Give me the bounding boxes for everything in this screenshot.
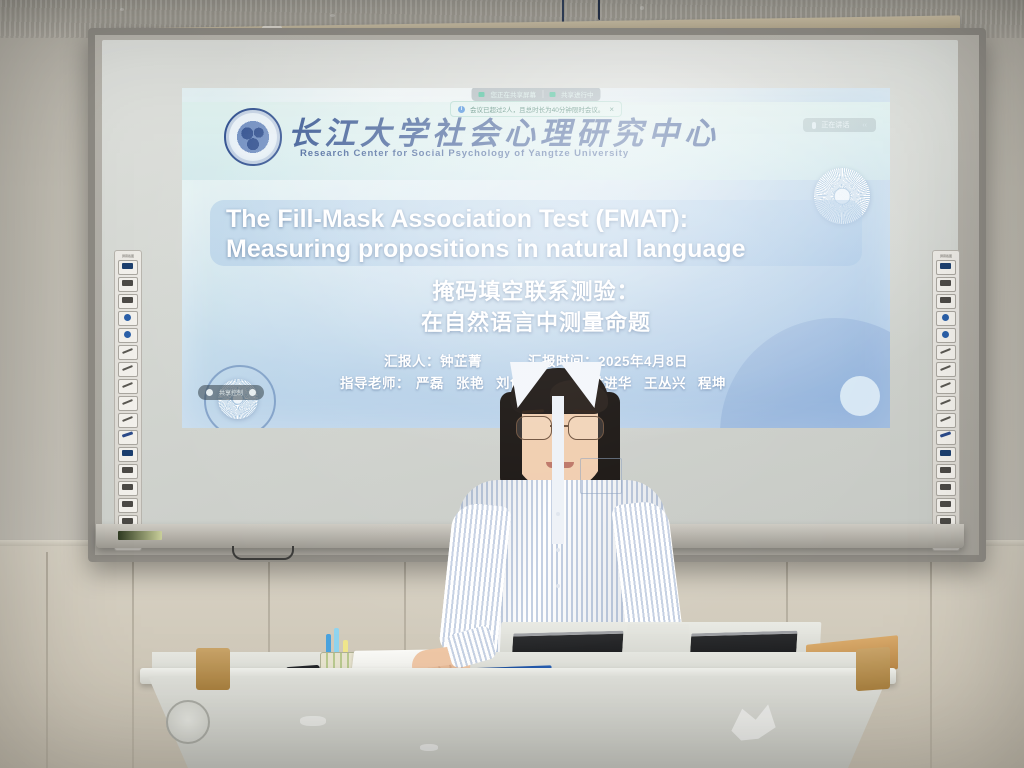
board-brand-label [118,531,162,540]
shape-tool[interactable] [118,430,138,445]
pen-tool-2[interactable] [118,362,138,377]
slide-title-cn-line2: 在自然语言中测量命题 [182,307,890,338]
share-status-label: 共享进行中 [561,89,594,99]
info-icon: i [458,106,465,113]
save-tool[interactable] [118,481,138,496]
dock-dot-icon-2 [249,389,256,396]
shape-tool[interactable] [936,430,956,445]
slide-title-en-line1: The Fill-Mask Association Test (FMAT): [226,204,866,234]
slide-title-english: The Fill-Mask Association Test (FMAT): M… [226,204,866,264]
toolbar-caption: 屏幕截图 [122,254,134,258]
podium-emblem [166,700,210,744]
advisor-name: 严磊 [416,372,444,392]
save-tool[interactable] [936,481,956,496]
print-tool[interactable] [936,498,956,513]
brush-tool[interactable] [118,396,138,411]
screen-share-bar[interactable]: 您正在共享屏幕 共享进行中 [472,88,601,101]
speaking-label: 正在讲话 [821,120,849,130]
blue-marker-tool[interactable] [118,311,138,326]
pen-tool-3[interactable] [118,379,138,394]
advisor-label: 指导老师： [340,376,410,391]
podium-post-left [196,648,230,690]
share-status-icon [549,92,555,97]
pen-tool-1[interactable] [118,345,138,360]
lamp-tool[interactable] [936,464,956,479]
slide-title-en-line2: Measuring propositions in natural langua… [226,234,866,264]
presenter-label: 汇报人： [384,354,440,369]
meeting-toast-text: 会议已超过2人，且总时长为40分钟限时会议。 [470,104,604,114]
classroom-presentation-photo: 长江大学社会心理研究中心 Research Center for Social … [0,0,1024,768]
print-tool[interactable] [118,498,138,513]
dock-dot-icon [206,389,213,396]
eraser-tool[interactable] [936,294,956,309]
highlight-tool[interactable] [118,413,138,428]
share-control-dock[interactable]: 共享控制 [198,385,264,400]
dot-tool[interactable] [936,328,956,343]
board-toolbar-right[interactable]: 屏幕截图 [932,250,960,551]
toolbar-caption-right: 屏幕截图 [940,254,952,258]
share-indicator-icon [479,92,485,97]
brush-tool[interactable] [936,396,956,411]
screen-capture-tool[interactable] [118,260,138,275]
slide-title-chinese: 掩码填空联系测验： 在自然语言中测量命题 [182,276,890,338]
slide-title-cn-line1: 掩码填空联系测验： [182,276,890,307]
advisor-name: 程坤 [698,372,726,392]
tray-cable-hook [232,546,294,560]
university-name-en: Research Center for Social Psychology of… [300,148,629,159]
pen-tool-1[interactable] [936,345,956,360]
lens-right [568,416,604,440]
share-control-label: 共享控制 [219,388,243,397]
pen-tool-2[interactable] [936,362,956,377]
blue-marker-tool[interactable] [936,311,956,326]
screen-capture-tool[interactable] [936,260,956,275]
select-tool[interactable] [118,277,138,292]
meeting-toast-banner[interactable]: i 会议已超过2人，且总时长为40分钟限时会议。 × [450,101,622,117]
highlight-tool[interactable] [936,413,956,428]
monitor-tool[interactable] [936,447,956,462]
microphone-icon [812,122,816,129]
share-bar-label: 您正在共享屏幕 [491,89,537,99]
shirt-pocket [580,458,622,494]
university-crest-icon [224,108,282,166]
lens-left [516,416,552,440]
board-toolbar-left[interactable]: 屏幕截图 [114,250,142,551]
shirt-placket [552,396,564,544]
speaking-indicator: 正在讲话 ‹‹ [803,118,876,132]
ceiling-cable-2 [598,0,600,20]
select-tool[interactable] [936,277,956,292]
podium-body [148,676,888,768]
presenter [452,362,672,662]
lamp-tool[interactable] [118,464,138,479]
pen-tool-3[interactable] [936,379,956,394]
close-icon[interactable]: × [609,105,614,114]
monitor-tool[interactable] [118,447,138,462]
dot-tool[interactable] [118,328,138,343]
chevron-left-icon[interactable]: ‹‹ [862,122,867,129]
podium-post-right [856,647,890,691]
eraser-tool[interactable] [118,294,138,309]
